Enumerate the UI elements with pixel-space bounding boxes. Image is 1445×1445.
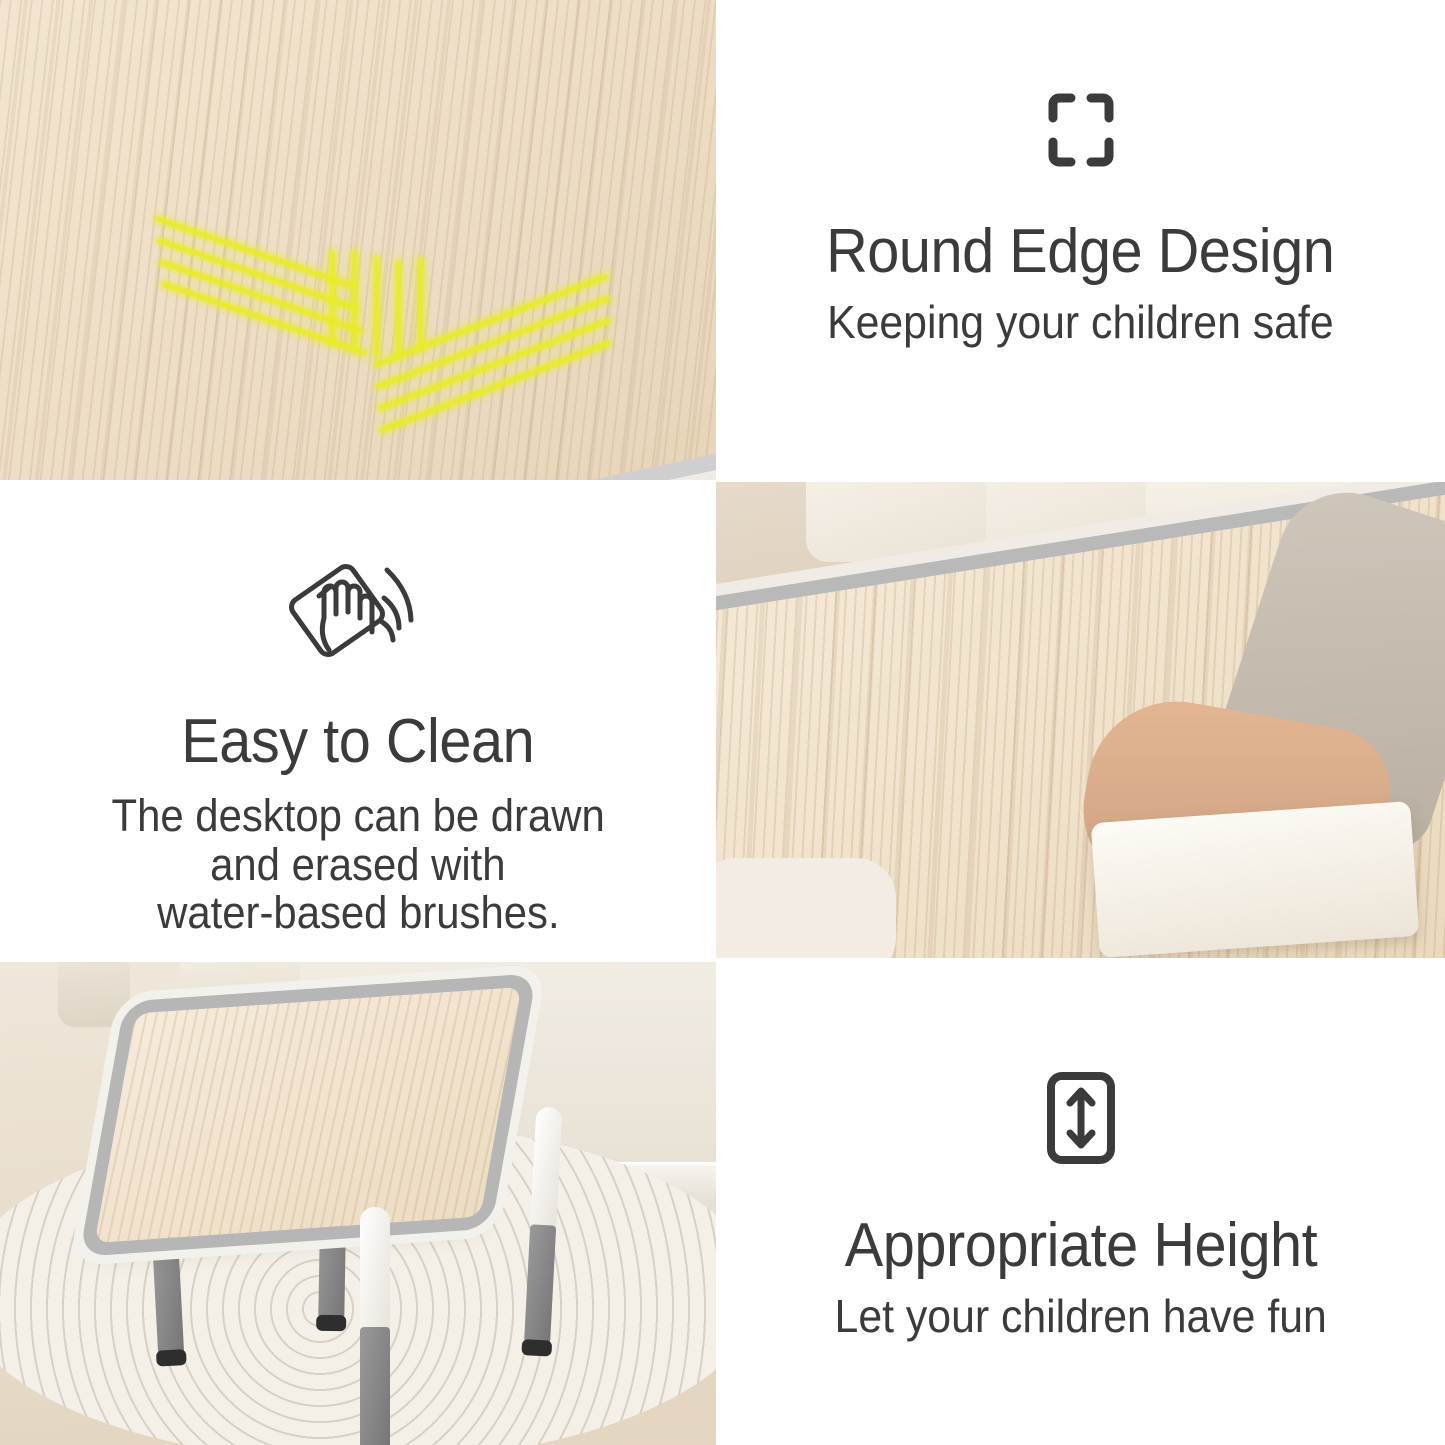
leg-foot-cap <box>156 1349 187 1367</box>
leg-foot-cap <box>316 1315 346 1332</box>
feature-subtitle-line-3: water-based brushes. <box>157 889 559 938</box>
feature-title: Easy to Clean <box>182 709 535 774</box>
highlight-tick <box>374 256 379 356</box>
highlight-tick <box>352 250 357 350</box>
wiping-hand-cloth-icon <box>283 562 433 675</box>
highlight-line <box>155 216 355 289</box>
cleaning-cloth <box>1091 801 1420 958</box>
highlight-line <box>379 340 610 433</box>
photo-table-corner-closeup <box>0 0 716 480</box>
tabletop <box>95 987 522 1243</box>
leg-foot-cap <box>521 1339 552 1357</box>
feature-card-easy-clean: Easy to Clean The desktop can be drawn a… <box>0 480 716 958</box>
highlight-tick <box>396 260 401 358</box>
leg-upper-section <box>360 1207 390 1332</box>
feature-subtitle-line-2: and erased with <box>210 841 505 890</box>
feature-title: Round Edge Design <box>826 219 1334 284</box>
feature-subtitle: Let your children have fun <box>834 1292 1326 1342</box>
feature-card-round-edge: Round Edge Design Keeping your children … <box>716 0 1445 480</box>
feature-subtitle-line-1: The desktop can be drawn <box>111 792 604 841</box>
photo-full-table <box>0 962 716 1445</box>
furniture-leg-background <box>58 962 130 1027</box>
height-adjust-arrow-icon <box>1042 1068 1120 1173</box>
highlight-line <box>161 281 367 356</box>
leg-lower-section <box>318 1215 346 1327</box>
cushion <box>806 482 996 562</box>
highlight-line <box>375 295 610 389</box>
scan-corners-icon <box>1043 88 1119 177</box>
highlight-tick <box>330 250 335 345</box>
highlight-tick <box>418 258 423 350</box>
infographic-board: Round Edge Design Keeping your children … <box>0 0 1445 1445</box>
table-leg-front <box>360 1207 390 1445</box>
photo-wiping-desktop <box>716 482 1445 958</box>
round-edge-highlight-group <box>140 200 610 430</box>
rug-corner <box>716 858 896 958</box>
highlight-line <box>377 318 610 412</box>
feature-card-appropriate-height: Appropriate Height Let your children hav… <box>716 962 1445 1445</box>
feature-title: Appropriate Height <box>844 1213 1316 1278</box>
leg-lower-section <box>360 1327 390 1445</box>
feature-subtitle: Keeping your children safe <box>827 298 1334 348</box>
